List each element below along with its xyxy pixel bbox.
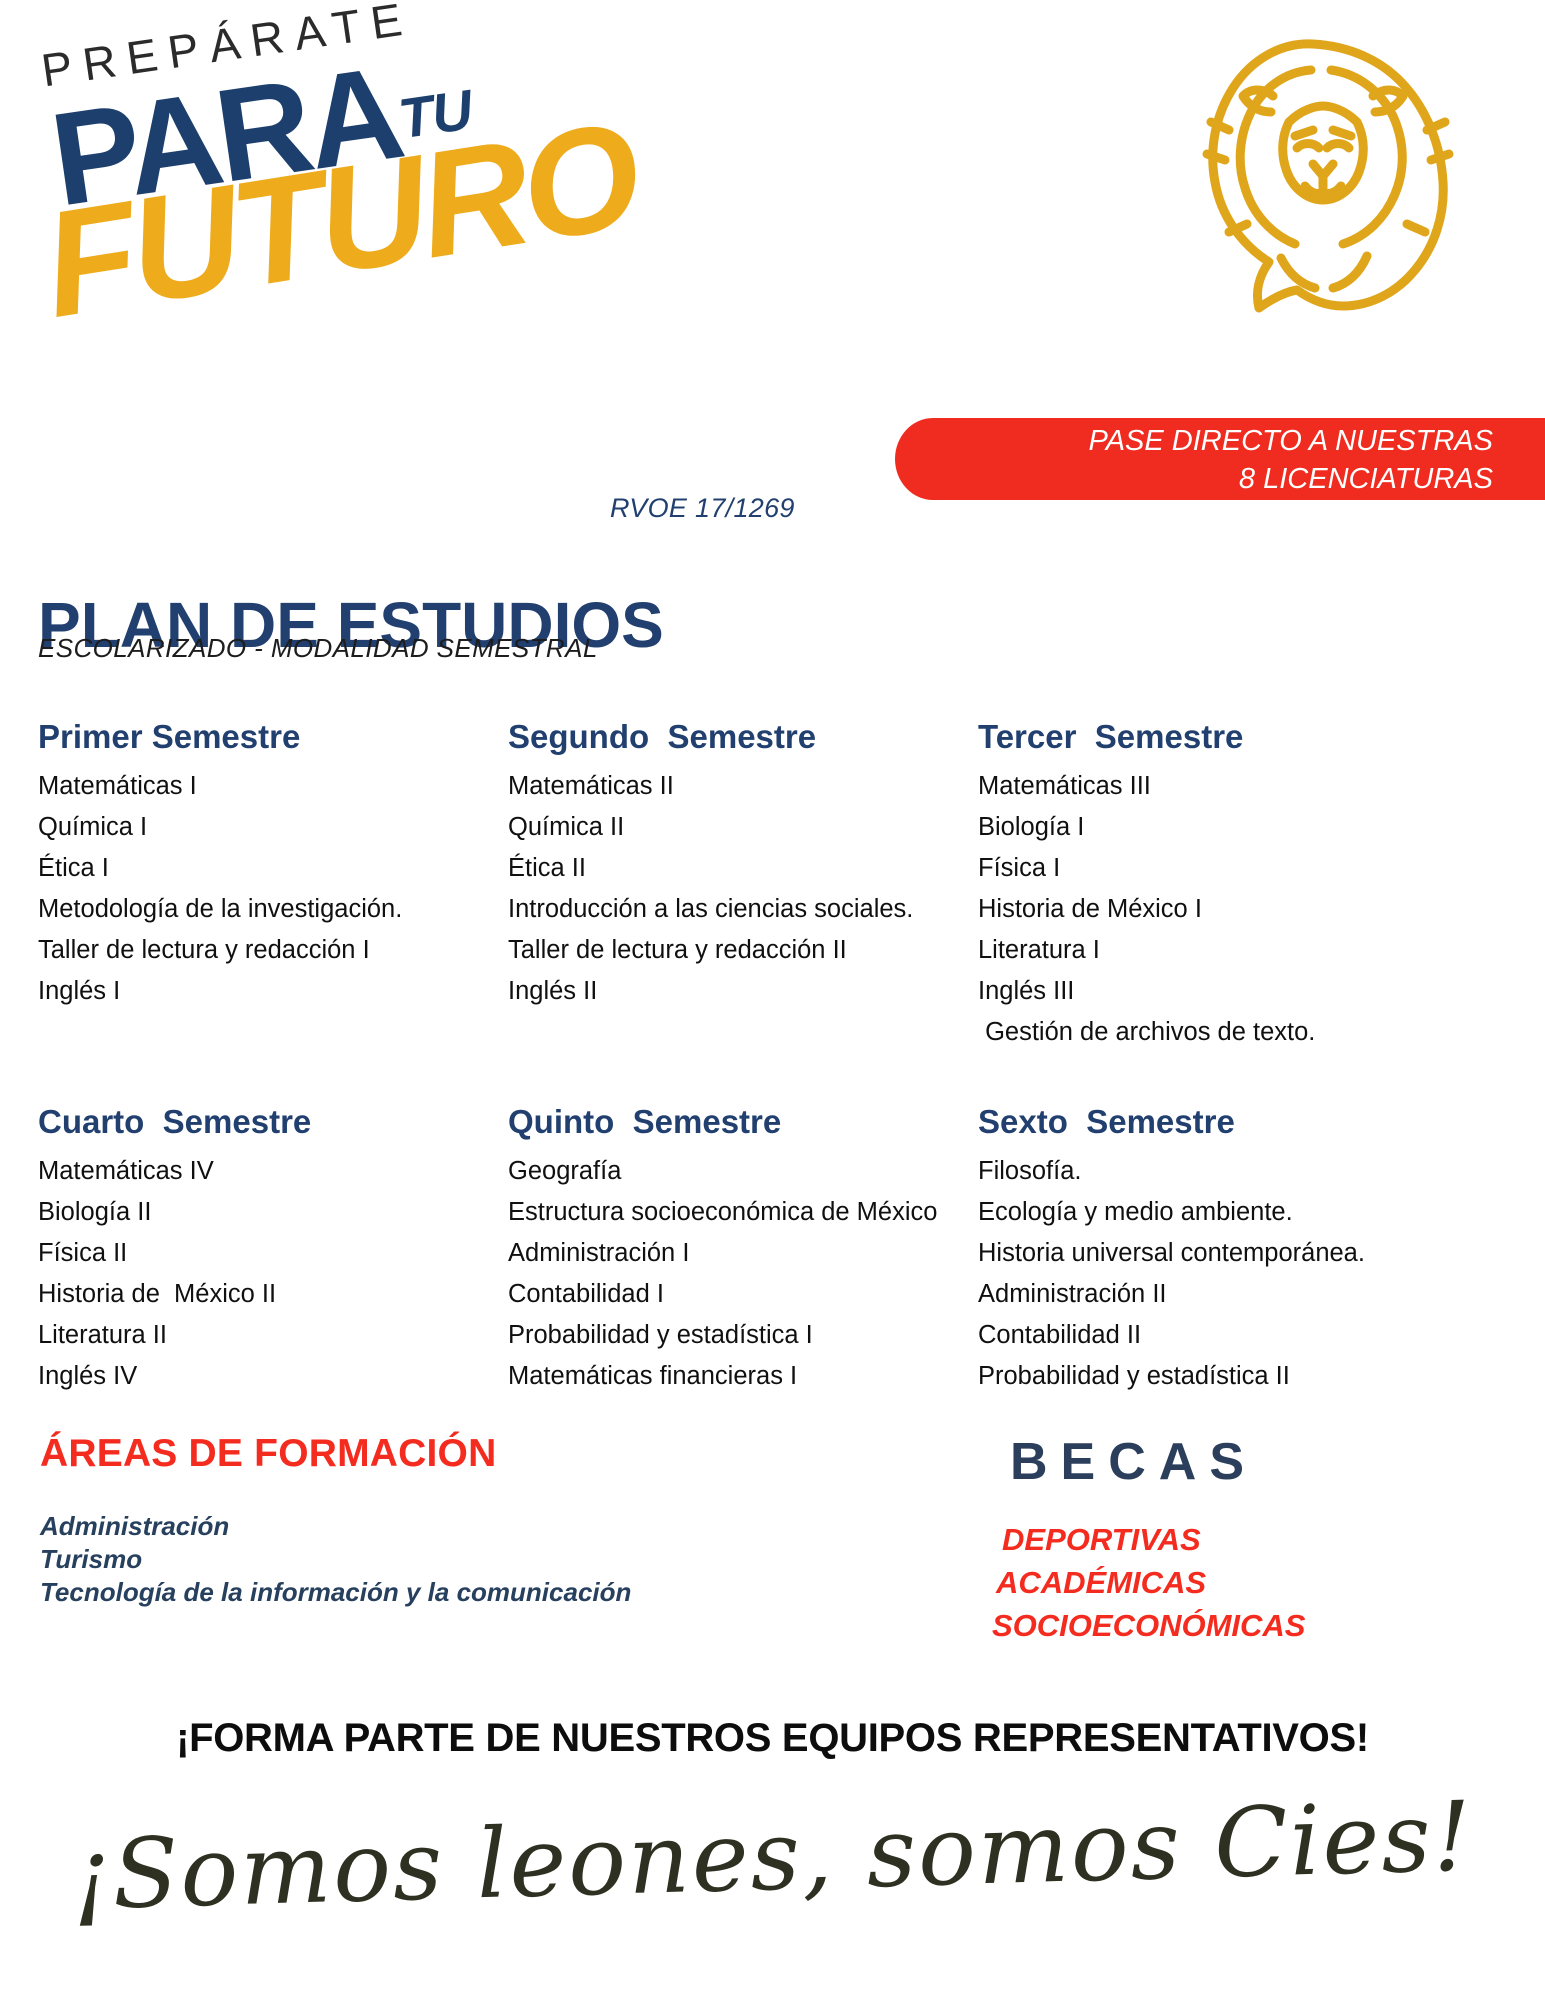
semester-heading: Sexto Semestre	[978, 1103, 1452, 1141]
rvoe-code: RVOE 17/1269	[610, 493, 795, 524]
list-item: Ética II	[508, 848, 972, 889]
course-list: Matemáticas I Química I Ética I Metodolo…	[38, 766, 502, 1012]
semester-row-1: Primer Semestre Matemáticas I Química I …	[38, 718, 1458, 1053]
list-item: Ética I	[38, 848, 502, 889]
semester-column-segundo: Segundo Semestre Matemáticas II Química …	[508, 718, 978, 1053]
list-item: Química I	[38, 807, 502, 848]
semester-heading: Segundo Semestre	[508, 718, 972, 756]
list-item: Matemáticas III	[978, 766, 1452, 807]
footer-call-to-action: ¡FORMA PARTE DE NUESTROS EQUIPOS REPRESE…	[0, 1716, 1545, 1761]
semester-grid: Primer Semestre Matemáticas I Química I …	[38, 718, 1458, 1397]
semester-column-sexto: Sexto Semestre Filosofía. Ecología y med…	[978, 1103, 1458, 1397]
list-item: Historia de México I	[978, 889, 1452, 930]
list-item: Taller de lectura y redacción I	[38, 930, 502, 971]
list-item: Turismo	[40, 1543, 631, 1576]
semester-column-primer: Primer Semestre Matemáticas I Química I …	[38, 718, 508, 1053]
banner-line-1: PASE DIRECTO A NUESTRAS	[895, 422, 1493, 460]
semester-column-quinto: Quinto Semestre Geografía Estructura soc…	[508, 1103, 978, 1397]
semester-heading: Primer Semestre	[38, 718, 502, 756]
becas-title: BECAS	[1010, 1432, 1257, 1492]
list-item: Probabilidad y estadística II	[978, 1356, 1452, 1397]
brand-logo: PREPÁRATE PARATU FUTURO	[0, 0, 820, 430]
list-item: SOCIOECONÓMICAS	[992, 1604, 1396, 1647]
list-item: Inglés II	[508, 971, 972, 1012]
list-item: Historia de México II	[38, 1274, 502, 1315]
list-item: Estructura socioeconómica de México	[508, 1192, 972, 1233]
course-list: Matemáticas IV Biología II Física II His…	[38, 1151, 502, 1397]
list-item: DEPORTIVAS	[1002, 1518, 1396, 1561]
areas-de-formacion-title: ÁREAS DE FORMACIÓN	[40, 1432, 496, 1476]
banner-line-2: 8 LICENCIATURAS	[895, 460, 1493, 498]
list-item: Literatura I	[978, 930, 1452, 971]
lion-head-icon	[1185, 30, 1465, 330]
page-subtitle: ESCOLARIZADO - MODALIDAD SEMESTRAL	[38, 633, 598, 664]
course-list: Matemáticas II Química II Ética II Intro…	[508, 766, 972, 1012]
course-list: Geografía Estructura socioeconómica de M…	[508, 1151, 972, 1397]
list-item: Inglés IV	[38, 1356, 502, 1397]
list-item: Física I	[978, 848, 1452, 889]
semester-heading: Quinto Semestre	[508, 1103, 972, 1141]
list-item: Taller de lectura y redacción II	[508, 930, 972, 971]
list-item: Biología II	[38, 1192, 502, 1233]
list-item: Matemáticas I	[38, 766, 502, 807]
list-item: Gestión de archivos de texto.	[978, 1012, 1452, 1053]
list-item: Matemáticas financieras I	[508, 1356, 972, 1397]
list-item: Tecnología de la información y la comuni…	[40, 1576, 631, 1609]
semester-row-2: Cuarto Semestre Matemáticas IV Biología …	[38, 1103, 1458, 1397]
list-item: Biología I	[978, 807, 1452, 848]
list-item: Química II	[508, 807, 972, 848]
areas-de-formacion-list: Administración Turismo Tecnología de la …	[40, 1510, 631, 1609]
list-item: Metodología de la investigación.	[38, 889, 502, 930]
list-item: Ecología y medio ambiente.	[978, 1192, 1452, 1233]
list-item: Administración II	[978, 1274, 1452, 1315]
semester-heading: Cuarto Semestre	[38, 1103, 502, 1141]
list-item: Matemáticas IV	[38, 1151, 502, 1192]
becas-list: DEPORTIVAS ACADÉMICAS SOCIOECONÓMICAS	[996, 1518, 1396, 1647]
list-item: Inglés III	[978, 971, 1452, 1012]
semester-heading: Tercer Semestre	[978, 718, 1452, 756]
list-item: Literatura II	[38, 1315, 502, 1356]
list-item: Inglés I	[38, 971, 502, 1012]
footer-tagline: ¡Somos leones, somos Cies!	[0, 1778, 1545, 1933]
list-item: Contabilidad I	[508, 1274, 972, 1315]
list-item: Administración I	[508, 1233, 972, 1274]
course-list: Filosofía. Ecología y medio ambiente. Hi…	[978, 1151, 1452, 1397]
list-item: ACADÉMICAS	[996, 1561, 1396, 1604]
course-list: Matemáticas III Biología I Física I Hist…	[978, 766, 1452, 1053]
list-item: Introducción a las ciencias sociales.	[508, 889, 972, 930]
semester-column-cuarto: Cuarto Semestre Matemáticas IV Biología …	[38, 1103, 508, 1397]
list-item: Administración	[40, 1510, 631, 1543]
list-item: Contabilidad II	[978, 1315, 1452, 1356]
list-item: Física II	[38, 1233, 502, 1274]
status-badge-pase-directo: PASE DIRECTO A NUESTRAS 8 LICENCIATURAS	[895, 418, 1545, 500]
list-item: Probabilidad y estadística I	[508, 1315, 972, 1356]
list-item: Geografía	[508, 1151, 972, 1192]
semester-column-tercer: Tercer Semestre Matemáticas III Biología…	[978, 718, 1458, 1053]
list-item: Historia universal contemporánea.	[978, 1233, 1452, 1274]
list-item: Matemáticas II	[508, 766, 972, 807]
list-item: Filosofía.	[978, 1151, 1452, 1192]
